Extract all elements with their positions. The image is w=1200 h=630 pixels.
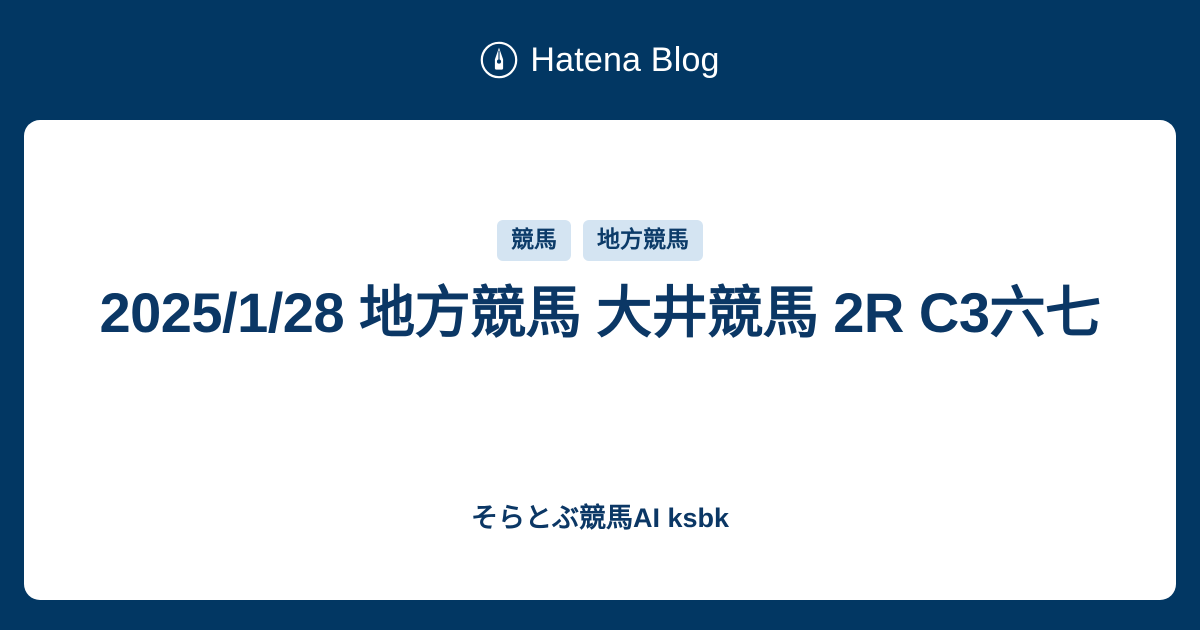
brand-name: Hatena Blog: [530, 43, 719, 77]
blog-name: そらとぶ競馬AI ksbk: [24, 502, 1176, 534]
og-image-card: Hatena Blog 競馬 地方競馬 2025/1/28 地方競馬 大井競馬 …: [0, 0, 1200, 630]
tag-item[interactable]: 競馬: [497, 220, 571, 261]
entry-card: 競馬 地方競馬 2025/1/28 地方競馬 大井競馬 2R C3六七 そらとぶ…: [24, 120, 1176, 600]
tag-item[interactable]: 地方競馬: [583, 220, 703, 261]
brand-header: Hatena Blog: [0, 0, 1200, 120]
tag-list: 競馬 地方競馬: [497, 220, 703, 261]
hatena-pen-nib-circle-icon: [480, 41, 518, 79]
entry-title: 2025/1/28 地方競馬 大井競馬 2R C3六七: [39, 279, 1160, 347]
